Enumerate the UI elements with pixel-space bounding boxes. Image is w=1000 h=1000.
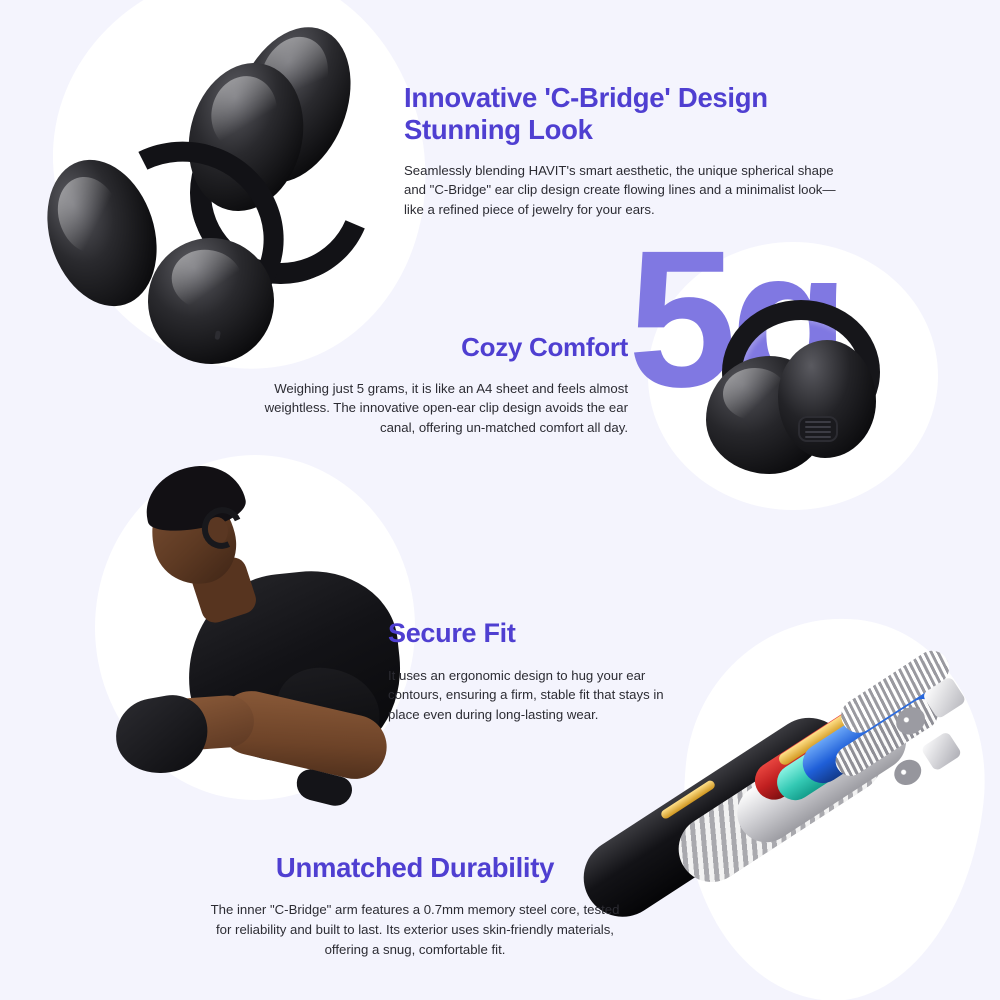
- section-cozy-comfort-body: Weighing just 5 grams, it is like an A4 …: [238, 379, 628, 438]
- section-c-bridge-design: Innovative 'C-Bridge' Design Stunning Lo…: [404, 82, 844, 219]
- earbud-b-microphone-port: [215, 330, 221, 340]
- product-feature-page: 5g: [0, 0, 1000, 1000]
- section-c-bridge-heading-line-1: Innovative 'C-Bridge' Design: [404, 82, 768, 113]
- earbud-b-tip-highlight: [48, 169, 129, 262]
- single-earbud-image: [700, 300, 890, 490]
- earbuds-pair-image: [40, 10, 430, 380]
- earbud-a-pod-highlight: [203, 69, 284, 157]
- section-unmatched-durability-heading: Unmatched Durability: [210, 852, 620, 884]
- athlete-image: [100, 455, 410, 800]
- section-c-bridge-heading-line-2: Stunning Look: [404, 114, 593, 145]
- section-secure-fit: Secure Fit It uses an ergonomic design t…: [388, 618, 688, 724]
- section-c-bridge-heading: Innovative 'C-Bridge' Design Stunning Lo…: [404, 82, 844, 147]
- section-c-bridge-body: Seamlessly blending HAVIT's smart aesthe…: [404, 161, 836, 220]
- cable-memory-steel-core-tip-lower: [920, 731, 962, 772]
- section-secure-fit-body: It uses an ergonomic design to hug your …: [388, 666, 680, 725]
- section-secure-fit-heading: Secure Fit: [388, 618, 688, 650]
- section-cozy-comfort-heading: Cozy Comfort: [238, 332, 628, 363]
- section-unmatched-durability-body: The inner "C-Bridge" arm features a 0.7m…: [210, 900, 620, 959]
- single-earbud-highlight: [723, 368, 786, 420]
- section-unmatched-durability: Unmatched Durability The inner "C-Bridge…: [210, 852, 620, 959]
- single-earbud-speaker-grille: [798, 416, 838, 442]
- earbud-b-pod-highlight: [167, 244, 247, 316]
- section-cozy-comfort: Cozy Comfort Weighing just 5 grams, it i…: [238, 332, 628, 437]
